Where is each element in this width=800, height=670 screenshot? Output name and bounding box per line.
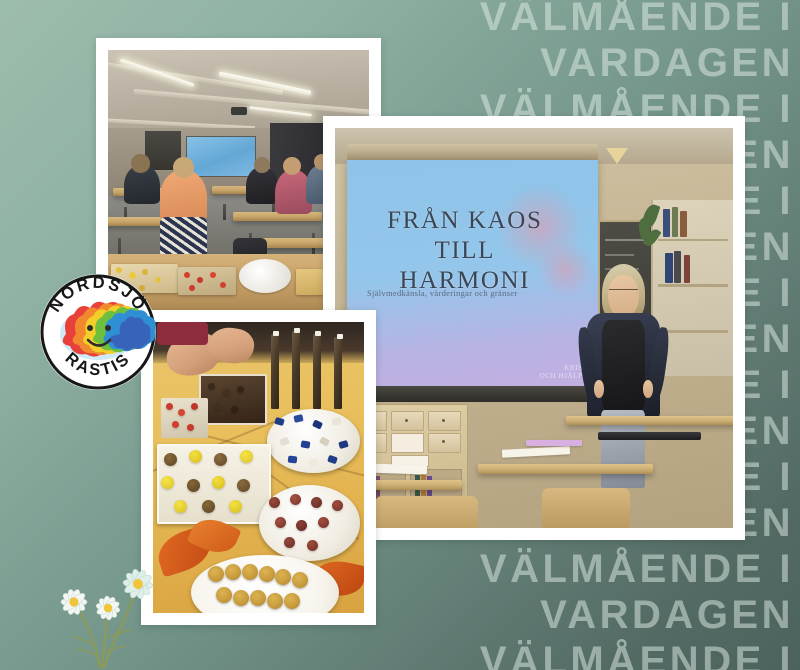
slide-title-line-1: FRÅN KAOS TILL bbox=[362, 206, 568, 266]
nordsjo-rastis-logo[interactable]: NORDSJÖ RASTIS bbox=[38, 272, 158, 392]
slide-subtitle: Självmedkänsla, värderingar och gränser bbox=[367, 288, 543, 298]
slide-title: FRÅN KAOS TILL HARMONI bbox=[362, 206, 568, 296]
daisy-flowers-illustration bbox=[22, 540, 197, 670]
slide-logo-line-1: KRIS bbox=[540, 364, 583, 372]
daisy-flower bbox=[61, 588, 87, 616]
projector-screen: FRÅN KAOS TILL HARMONI Självmedkänsla, v… bbox=[347, 160, 598, 392]
poster-canvas: VÄLMÅENDE IVARDAGENVÄLMÅENDE IVARDAGENVÄ… bbox=[0, 0, 800, 670]
background-wordmark-line: VÄLMÅENDE I bbox=[0, 0, 794, 40]
daisy-flower bbox=[95, 595, 121, 620]
speaker-figure bbox=[578, 264, 670, 488]
slide-logo-line-2: OCH HJÄLP bbox=[540, 372, 583, 380]
speaker-photo-frame: FRÅN KAOS TILL HARMONI Självmedkänsla, v… bbox=[323, 116, 745, 540]
slide-logo: KRIS OCH HJÄLP bbox=[540, 364, 583, 380]
daisy-flower bbox=[123, 568, 154, 599]
speaker-photo: FRÅN KAOS TILL HARMONI Självmedkänsla, v… bbox=[335, 128, 733, 528]
